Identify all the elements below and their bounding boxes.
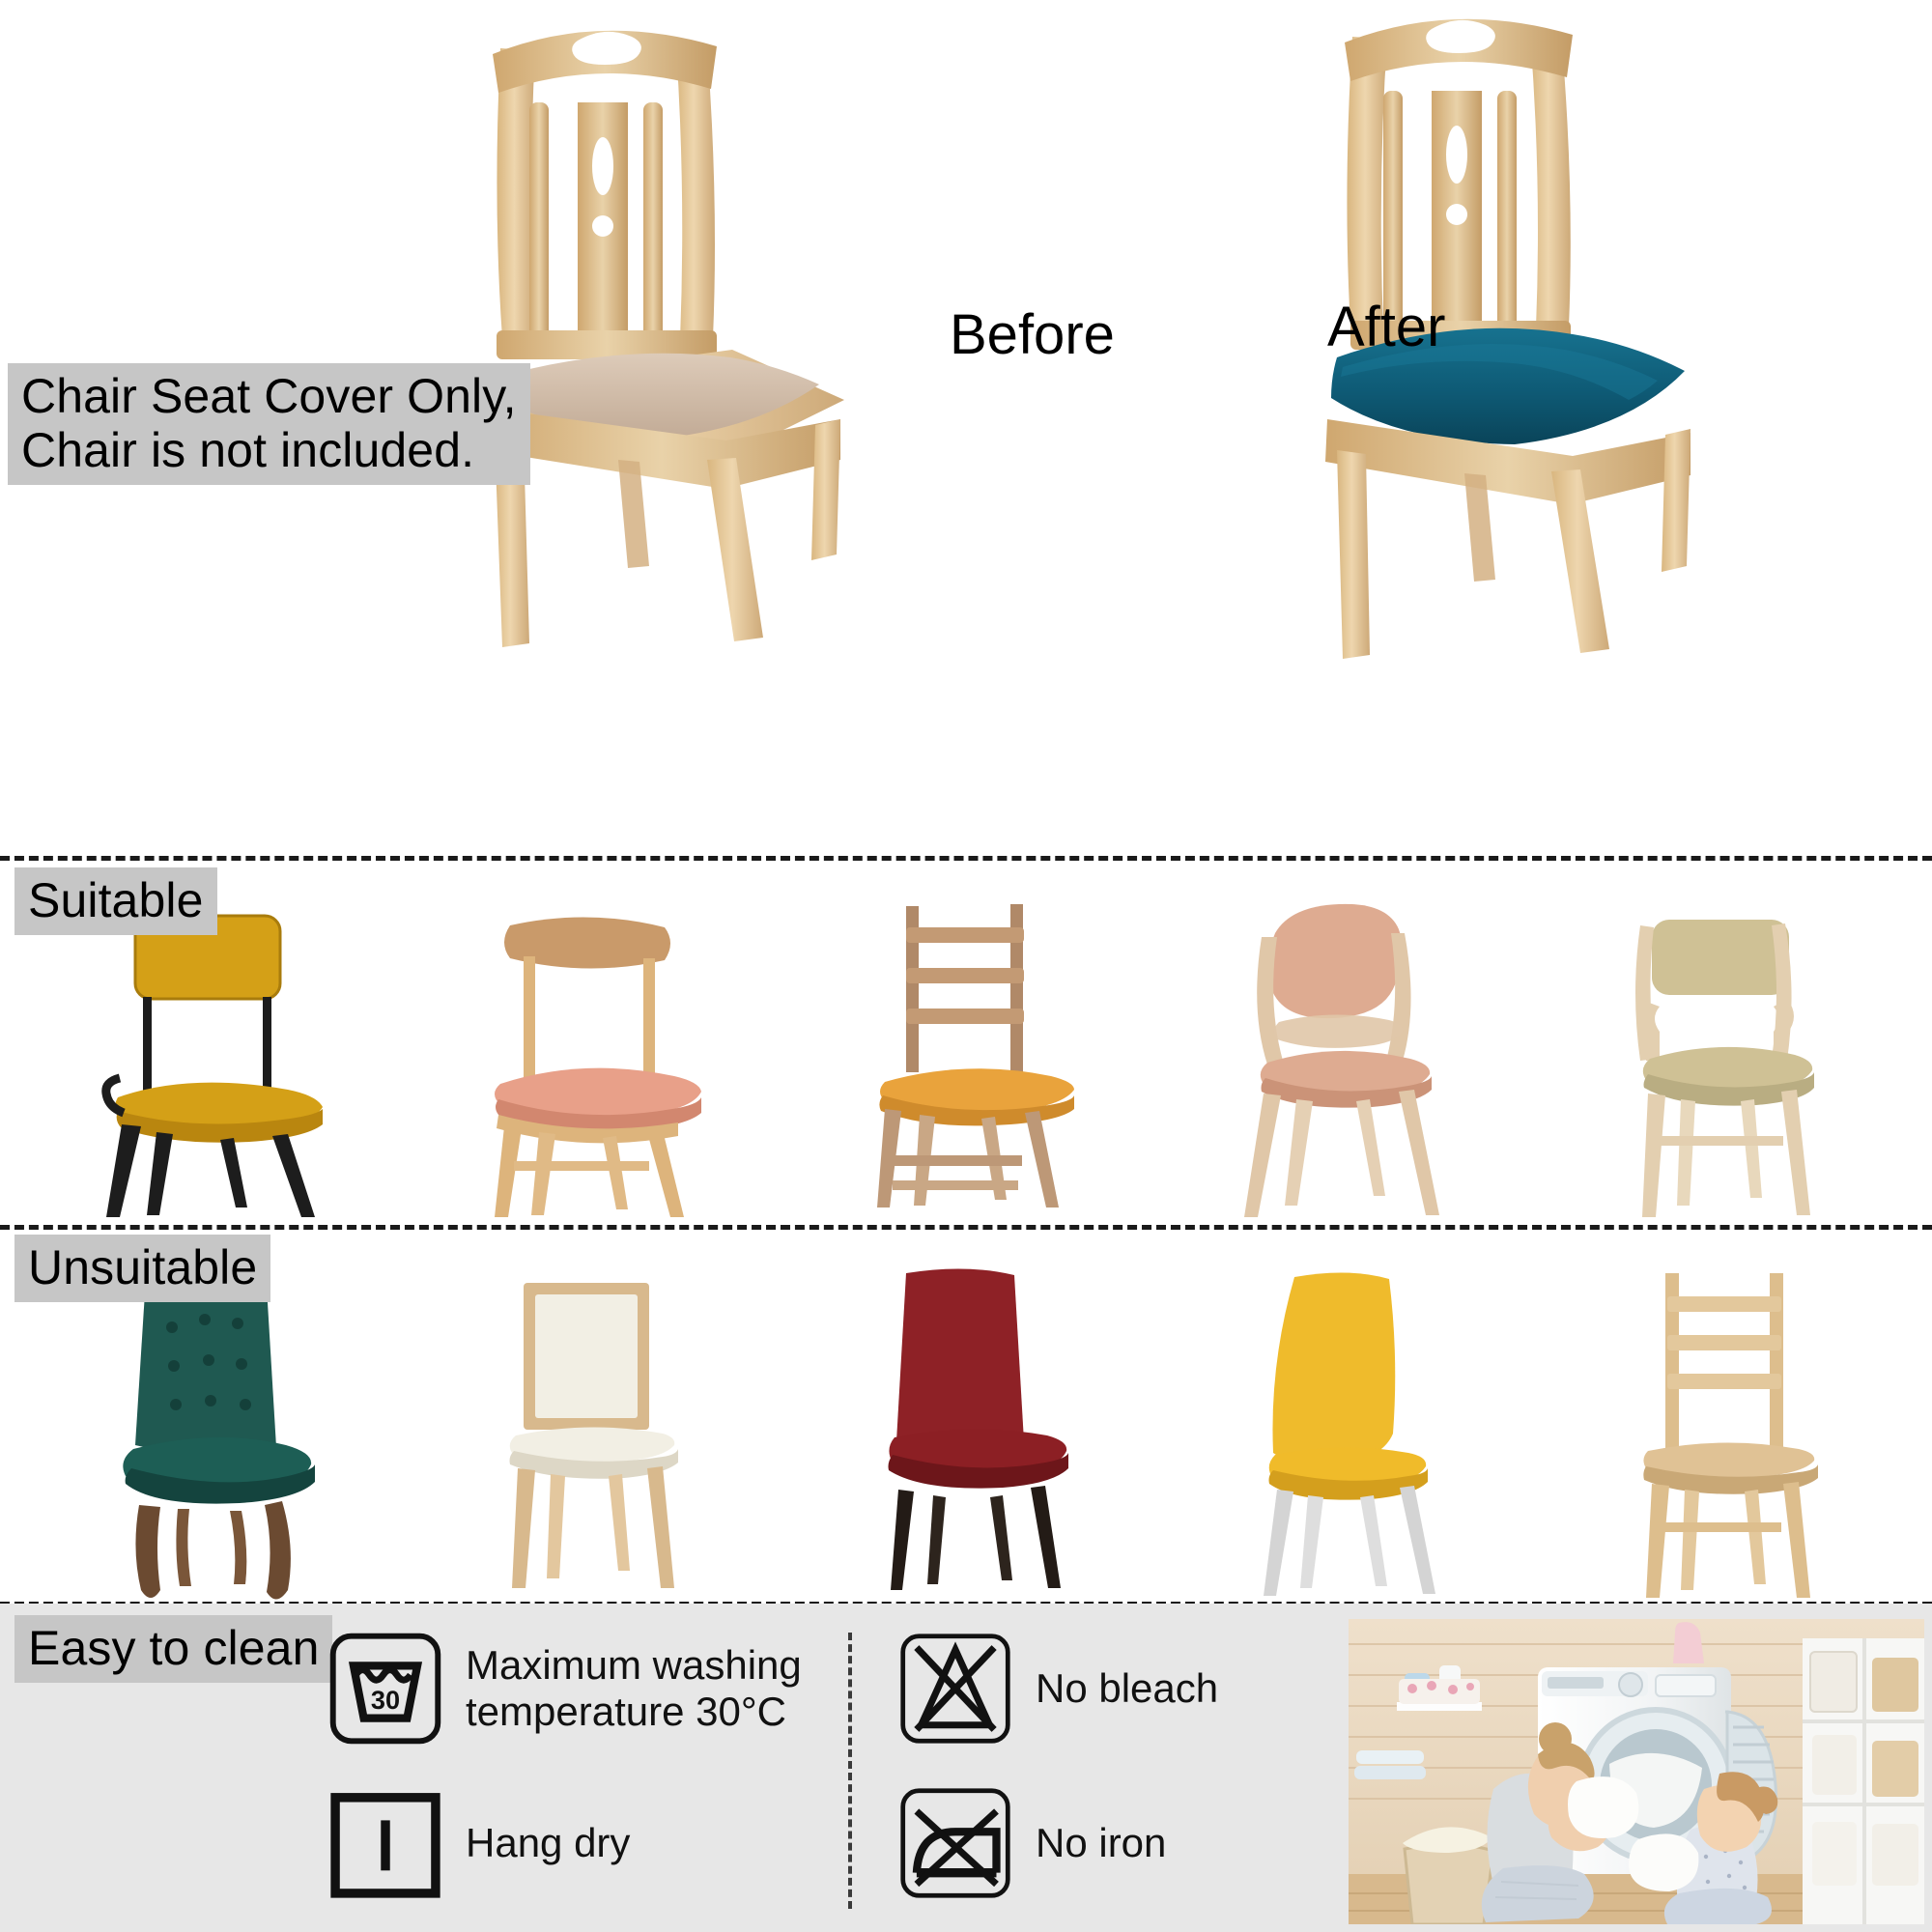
unsuitable-chair-5 bbox=[1534, 1227, 1913, 1604]
care-text-wash: Maximum washing temperature 30°C bbox=[466, 1642, 802, 1735]
no-iron-icon bbox=[898, 1786, 1012, 1900]
easy-to-clean-label: Easy to clean bbox=[14, 1615, 332, 1683]
svg-text:30: 30 bbox=[371, 1685, 400, 1715]
before-label: Before bbox=[950, 302, 1115, 367]
after-label: After bbox=[1327, 295, 1446, 359]
before-after-section: Chair Seat Cover Only, Chair is not incl… bbox=[0, 0, 1932, 858]
unsuitable-chair-3 bbox=[777, 1227, 1155, 1604]
unsuitable-chairs-row bbox=[0, 1227, 1932, 1604]
before-chair-illustration bbox=[454, 19, 860, 657]
product-notice: Chair Seat Cover Only, Chair is not incl… bbox=[8, 363, 530, 485]
notice-line-2: Chair is not included. bbox=[21, 423, 474, 477]
suitable-label: Suitable bbox=[14, 867, 217, 935]
care-item-wash: 30 Maximum washing temperature 30°C bbox=[328, 1611, 850, 1766]
care-text-hang-dry: Hang dry bbox=[466, 1820, 630, 1866]
notice-line-1: Chair Seat Cover Only, bbox=[21, 369, 517, 423]
suitable-chair-2 bbox=[398, 858, 777, 1227]
suitable-chair-4 bbox=[1155, 858, 1534, 1227]
care-text-no-iron: No iron bbox=[1036, 1820, 1166, 1866]
care-item-no-bleach: No bleach bbox=[898, 1611, 1352, 1766]
suitable-chair-5 bbox=[1534, 858, 1913, 1227]
care-items-left: 30 Maximum washing temperature 30°C Hang… bbox=[328, 1611, 850, 1920]
unsuitable-chair-2 bbox=[398, 1227, 777, 1604]
laundry-photo bbox=[1349, 1619, 1924, 1924]
hang-dry-icon bbox=[328, 1786, 442, 1900]
care-item-no-iron: No iron bbox=[898, 1766, 1352, 1920]
care-items-right: No bleach No iron bbox=[898, 1611, 1352, 1920]
care-text-no-bleach: No bleach bbox=[1036, 1665, 1218, 1712]
suitable-chairs-row bbox=[0, 858, 1932, 1227]
unsuitable-chair-4 bbox=[1155, 1227, 1534, 1604]
care-item-hang-dry: Hang dry bbox=[328, 1766, 850, 1920]
unsuitable-label: Unsuitable bbox=[14, 1235, 270, 1302]
no-bleach-icon bbox=[898, 1632, 1012, 1746]
wash-30-icon: 30 bbox=[328, 1632, 442, 1746]
suitable-chair-3 bbox=[777, 858, 1155, 1227]
